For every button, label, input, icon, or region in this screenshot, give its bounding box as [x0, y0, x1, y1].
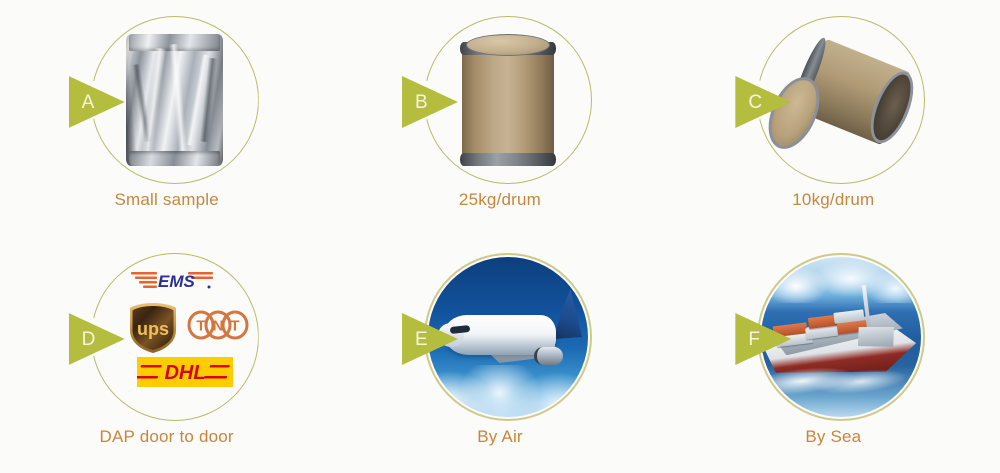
step-letter-f: F	[748, 330, 760, 349]
badge-c: C	[735, 14, 931, 190]
step-letter-b: B	[415, 93, 428, 112]
panel-dap-door-to-door[interactable]: EMS	[0, 237, 333, 473]
open-drum-image	[766, 35, 916, 165]
panel-small-sample[interactable]: A Small sample	[0, 0, 333, 237]
fiber-drum-image	[462, 32, 554, 168]
badge-a: A	[69, 14, 265, 190]
badge-f: F	[735, 251, 931, 427]
foil-sample-bag-image	[126, 34, 223, 166]
cloud-layer	[761, 261, 921, 303]
caption-small-sample: Small sample	[0, 190, 333, 210]
step-letter-e: E	[415, 330, 428, 349]
ups-logo-icon: ups	[127, 301, 179, 355]
svg-text:T: T	[230, 318, 239, 335]
badge-b: B	[402, 14, 598, 190]
panel-grid: A Small sample B	[0, 0, 1000, 473]
bag-crease	[142, 48, 167, 153]
svg-text:EMS: EMS	[158, 272, 196, 291]
caption-25kg-drum: 25kg/drum	[333, 190, 666, 210]
badge-e: E	[402, 251, 598, 427]
bag-crease	[186, 54, 209, 146]
drum-lid	[466, 34, 550, 56]
step-letter-a: A	[82, 93, 95, 112]
packaging-shipping-board: A Small sample B	[0, 0, 1000, 473]
svg-text:DHL: DHL	[164, 362, 205, 384]
caption-10kg-drum: 10kg/drum	[667, 190, 1000, 210]
step-letter-c: C	[748, 93, 762, 112]
panel-by-air[interactable]: E By Air	[333, 237, 666, 473]
step-letter-d: D	[82, 330, 96, 349]
tnt-logo-icon: T N T	[187, 309, 249, 341]
bag-crease	[132, 64, 152, 142]
bag-crease	[169, 44, 188, 156]
svg-text:T: T	[196, 318, 205, 335]
cargo-plane	[438, 299, 584, 373]
svg-text:N: N	[212, 318, 223, 335]
drum-rim-bottom	[460, 153, 556, 166]
caption-dap-door-to-door: DAP door to door	[0, 427, 333, 447]
drum-body	[462, 43, 554, 161]
bag-crease	[200, 58, 218, 142]
panel-10kg-drum[interactable]: C 10kg/drum	[667, 0, 1000, 237]
svg-text:ups: ups	[137, 319, 169, 339]
caption-by-air: By Air	[333, 427, 666, 447]
panel-by-sea[interactable]: F By Sea	[667, 237, 1000, 473]
badge-d: EMS	[69, 251, 265, 427]
plane-engine	[534, 347, 563, 365]
dhl-logo-icon: DHL	[137, 357, 233, 387]
plane-tail	[552, 289, 582, 339]
panel-25kg-drum[interactable]: B 25kg/drum	[333, 0, 666, 237]
caption-by-sea: By Sea	[667, 427, 1000, 447]
ems-logo-icon: EMS	[129, 267, 215, 293]
